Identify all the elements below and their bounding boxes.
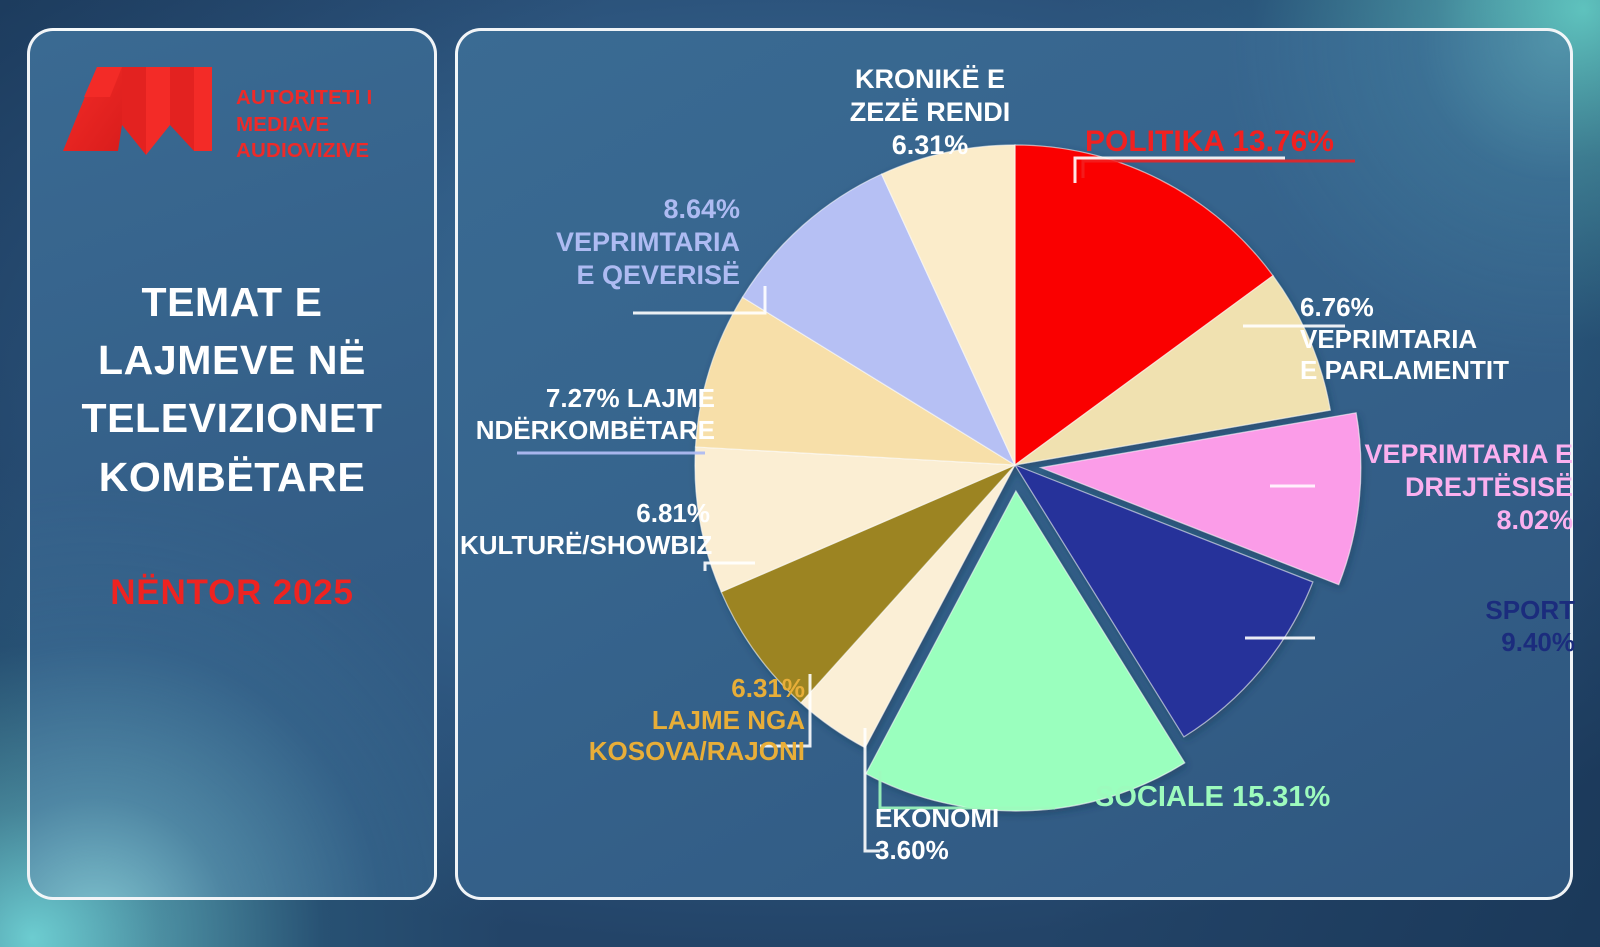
pie-chart: KRONIKË EZEZË RENDI6.31% POLITIKA 13.76%… xyxy=(455,28,1573,900)
label-lajme-nderkombetare: 7.27% LAJMENDËRKOMBËTARE xyxy=(455,383,715,446)
label-veprimtaria-e-parlamentit: 6.76%VEPRIMTARIAE PARLAMENTIT xyxy=(1300,292,1580,387)
label-kronike-e-zeze-rendi: KRONIKË EZEZË RENDI6.31% xyxy=(780,63,1080,162)
label-line: 6.76% xyxy=(1300,292,1580,324)
label-sport: SPORT9.40% xyxy=(1245,595,1575,658)
label-kulture-showbiz: 6.81%KULTURË/SHOWBIZ xyxy=(460,498,710,561)
title-line-2: LAJMEVE NË xyxy=(30,331,434,389)
label-line: VEPRIMTARIA xyxy=(1300,324,1580,356)
label-line: VEPRIMTARIA E xyxy=(1215,438,1573,471)
label-line: EKONOMI xyxy=(875,803,1175,835)
label-line: 6.31% xyxy=(495,673,805,705)
label-line: KOSOVA/RAJONI xyxy=(495,736,805,768)
logo-word-line-1: AUTORITETI I xyxy=(236,85,372,112)
label-line: 9.40% xyxy=(1245,627,1575,659)
ama-logo-wordmark: AUTORITETI I MEDIAVE AUDIOVIZIVE xyxy=(236,85,372,165)
title-line-1: TEMAT E xyxy=(30,273,434,331)
label-line: POLITIKA 13.76% xyxy=(1085,124,1465,161)
label-line: NDËRKOMBËTARE xyxy=(455,415,715,447)
label-ekonomi: EKONOMI3.60% xyxy=(875,803,1175,866)
label-politika: POLITIKA 13.76% xyxy=(1085,124,1465,161)
title-line-4: KOMBËTARE xyxy=(30,448,434,506)
left-info-panel: AUTORITETI I MEDIAVE AUDIOVIZIVE TEMAT E… xyxy=(27,28,437,900)
logo-word-line-2: MEDIAVE xyxy=(236,112,372,139)
label-line: ZEZË RENDI xyxy=(780,96,1080,129)
label-line: LAJME NGA xyxy=(495,705,805,737)
label-line: 6.81% xyxy=(460,498,710,530)
label-line: 8.02% xyxy=(1215,504,1573,537)
label-line: SPORT xyxy=(1245,595,1575,627)
page-title: TEMAT E LAJMEVE NË TELEVIZIONET KOMBËTAR… xyxy=(30,273,434,506)
label-line: 6.31% xyxy=(780,129,1080,162)
ama-logo: AUTORITETI I MEDIAVE AUDIOVIZIVE xyxy=(60,63,372,165)
label-line: E QEVERISË xyxy=(485,259,740,292)
label-line: E PARLAMENTIT xyxy=(1300,355,1580,387)
label-line: 7.27% LAJME xyxy=(455,383,715,415)
title-line-3: TELEVIZIONET xyxy=(30,389,434,447)
label-line: 3.60% xyxy=(875,835,1175,867)
label-veprimtaria-e-qeverise: 8.64%VEPRIMTARIAE QEVERISË xyxy=(485,193,740,292)
ama-zigzag-logo-icon xyxy=(60,63,232,155)
period-subtitle: NËNTOR 2025 xyxy=(30,573,434,613)
label-lajme-nga-kosova-rajoni: 6.31%LAJME NGAKOSOVA/RAJONI xyxy=(495,673,805,768)
label-veprimtaria-e-drejtesise: VEPRIMTARIA EDREJTËSISË8.02% xyxy=(1215,438,1573,537)
label-line: KRONIKË E xyxy=(780,63,1080,96)
logo-word-line-3: AUDIOVIZIVE xyxy=(236,138,372,165)
label-line: KULTURË/SHOWBIZ xyxy=(460,530,710,562)
label-line: 8.64% xyxy=(485,193,740,226)
label-line: DREJTËSISË xyxy=(1215,471,1573,504)
label-line: VEPRIMTARIA xyxy=(485,226,740,259)
